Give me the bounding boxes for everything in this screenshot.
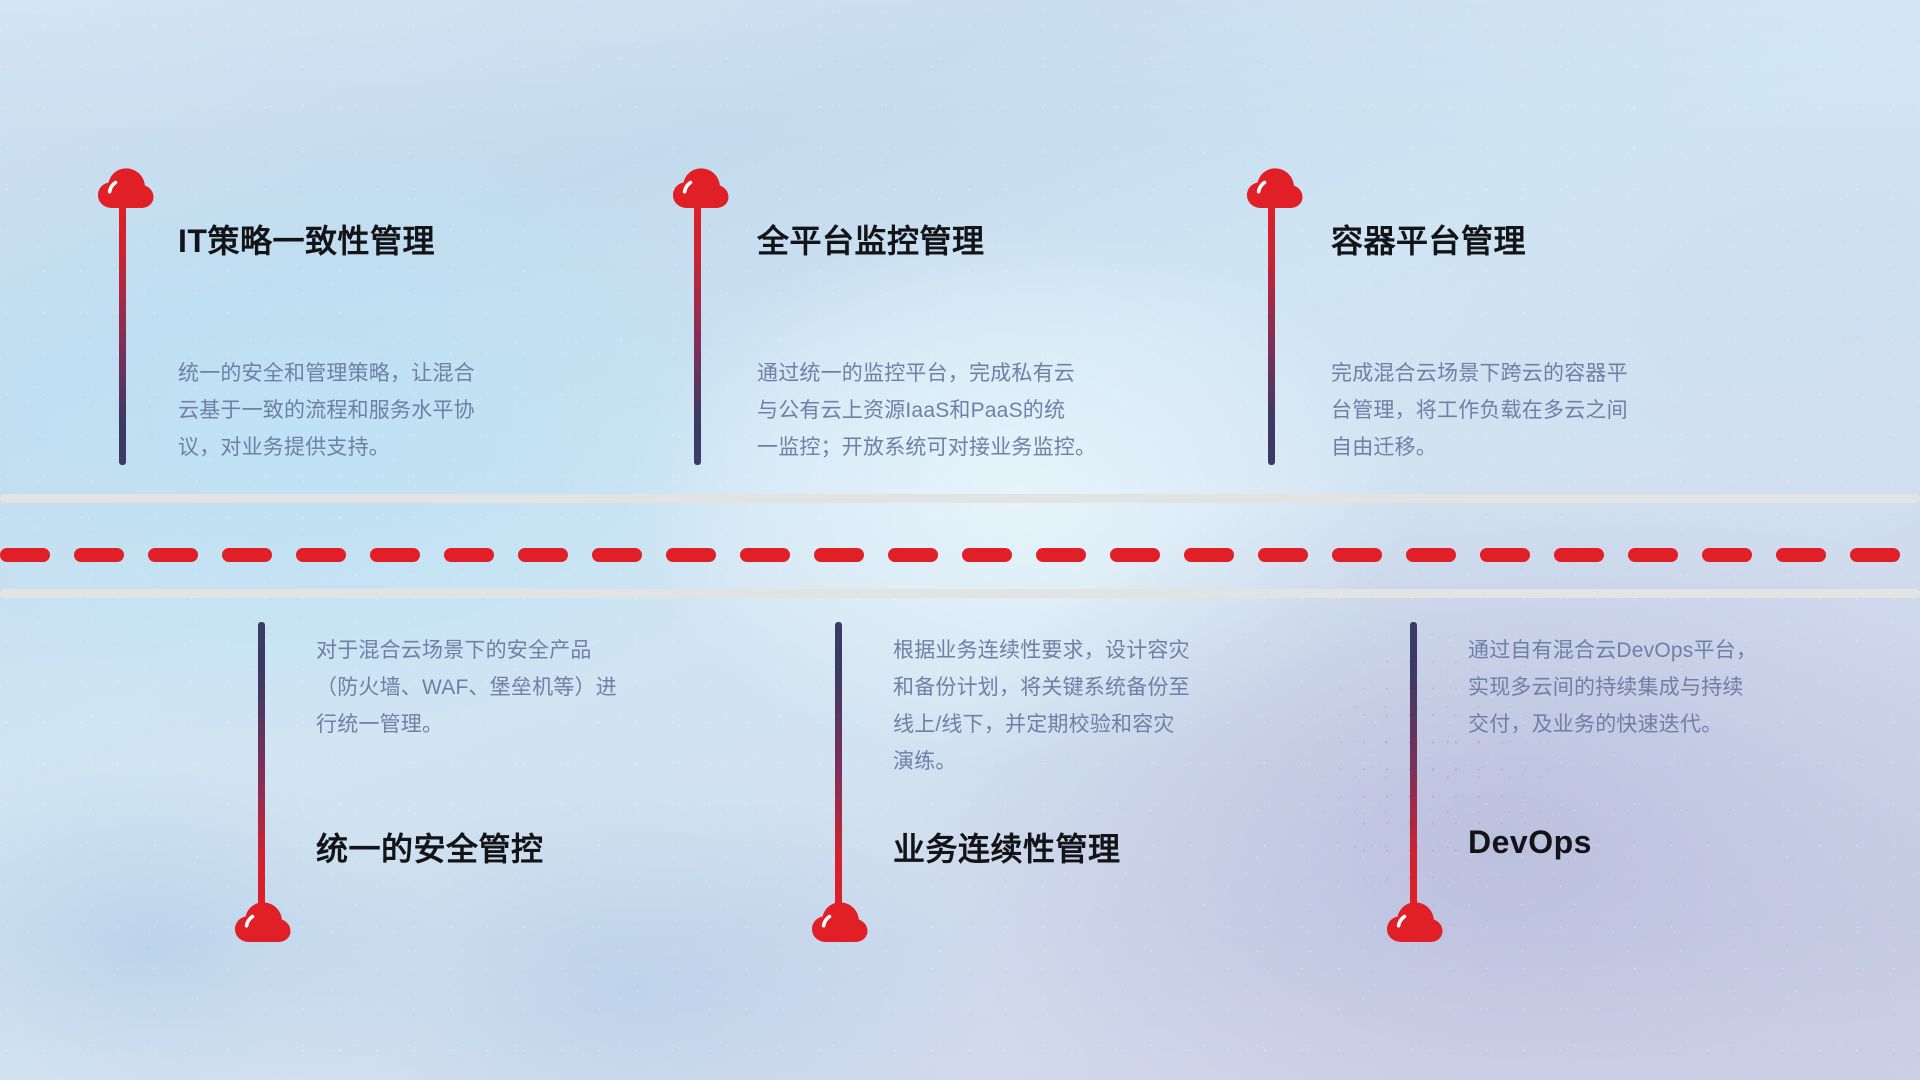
body-line: 与公有云上资源IaaS和PaaS的统 [757,392,1096,429]
infographic-canvas: IT策略一致性管理 统一的安全和管理策略，让混合云基于一致的流程和服务水平协议，… [0,0,1920,1080]
body-line: 统一的安全和管理策略，让混合 [178,355,475,392]
road-dash [1776,548,1826,562]
body-line: 自由迁移。 [1331,429,1628,466]
road-dash [74,548,124,562]
stem-connector [1268,200,1275,465]
road-dash [444,548,494,562]
road-edge-bottom [0,589,1920,598]
card-body: 通过统一的监控平台，完成私有云与公有云上资源IaaS和PaaS的统一监控；开放系… [757,355,1096,466]
body-line: 一监控；开放系统可对接业务监控。 [757,429,1096,466]
road-dash [222,548,272,562]
road-dash [1406,548,1456,562]
road-dash [1628,548,1678,562]
body-line: （防火墙、WAF、堡垒机等）进 [316,669,617,706]
road-dash [148,548,198,562]
road-center-dashes [0,548,1920,562]
body-line: 台管理，将工作负载在多云之间 [1331,392,1628,429]
stem-connector [835,622,842,907]
card-body: 根据业务连续性要求，设计容灾和备份计划，将关键系统备份至线上/线下，并定期校验和… [893,632,1190,780]
body-line: 线上/线下，并定期校验和容灾 [893,706,1190,743]
card-body: 统一的安全和管理策略，让混合云基于一致的流程和服务水平协议，对业务提供支持。 [178,355,475,466]
road-dash [1258,548,1308,562]
body-line: 根据业务连续性要求，设计容灾 [893,632,1190,669]
road-dash [888,548,938,562]
road-dash [592,548,642,562]
card-body: 完成混合云场景下跨云的容器平台管理，将工作负载在多云之间自由迁移。 [1331,355,1628,466]
road-dash [1036,548,1086,562]
card-heading: 业务连续性管理 [893,824,1121,870]
road-dash [740,548,790,562]
road-dash [666,548,716,562]
body-line: 对于混合云场景下的安全产品 [316,632,617,669]
body-line: 行统一管理。 [316,706,617,743]
card-heading: 全平台监控管理 [757,216,985,262]
road-dash [1110,548,1160,562]
road-dash [814,548,864,562]
body-line: 完成混合云场景下跨云的容器平 [1331,355,1628,392]
card-body: 通过自有混合云DevOps平台，实现多云间的持续集成与持续交付，及业务的快速迭代… [1468,632,1757,743]
body-line: 云基于一致的流程和服务水平协 [178,392,475,429]
body-line: 演练。 [893,743,1190,780]
road-dash [962,548,1012,562]
cloud-icon [231,896,293,944]
road-dash [1702,548,1752,562]
road-dash [0,548,50,562]
body-line: 议，对业务提供支持。 [178,429,475,466]
road-dash [1184,548,1234,562]
road-dash [1480,548,1530,562]
cloud-icon [808,896,870,944]
road-edge-top [0,494,1920,503]
road-dash [1850,548,1900,562]
road-dash [296,548,346,562]
card-heading: DevOps [1468,824,1592,861]
body-line: 通过自有混合云DevOps平台， [1468,632,1757,669]
road-dash [370,548,420,562]
road-dash [1332,548,1382,562]
road-dash [1554,548,1604,562]
stem-connector [694,200,701,465]
stem-connector [258,622,265,907]
body-line: 实现多云间的持续集成与持续 [1468,669,1757,706]
card-heading: 容器平台管理 [1331,216,1526,262]
card-body: 对于混合云场景下的安全产品（防火墙、WAF、堡垒机等）进行统一管理。 [316,632,617,743]
cloud-icon [1383,896,1445,944]
card-heading: 统一的安全管控 [316,824,544,870]
stem-connector [119,200,126,465]
body-line: 和备份计划，将关键系统备份至 [893,669,1190,706]
body-line: 通过统一的监控平台，完成私有云 [757,355,1096,392]
card-heading: IT策略一致性管理 [178,216,435,262]
stem-connector [1410,622,1417,907]
body-line: 交付，及业务的快速迭代。 [1468,706,1757,743]
road-dash [518,548,568,562]
